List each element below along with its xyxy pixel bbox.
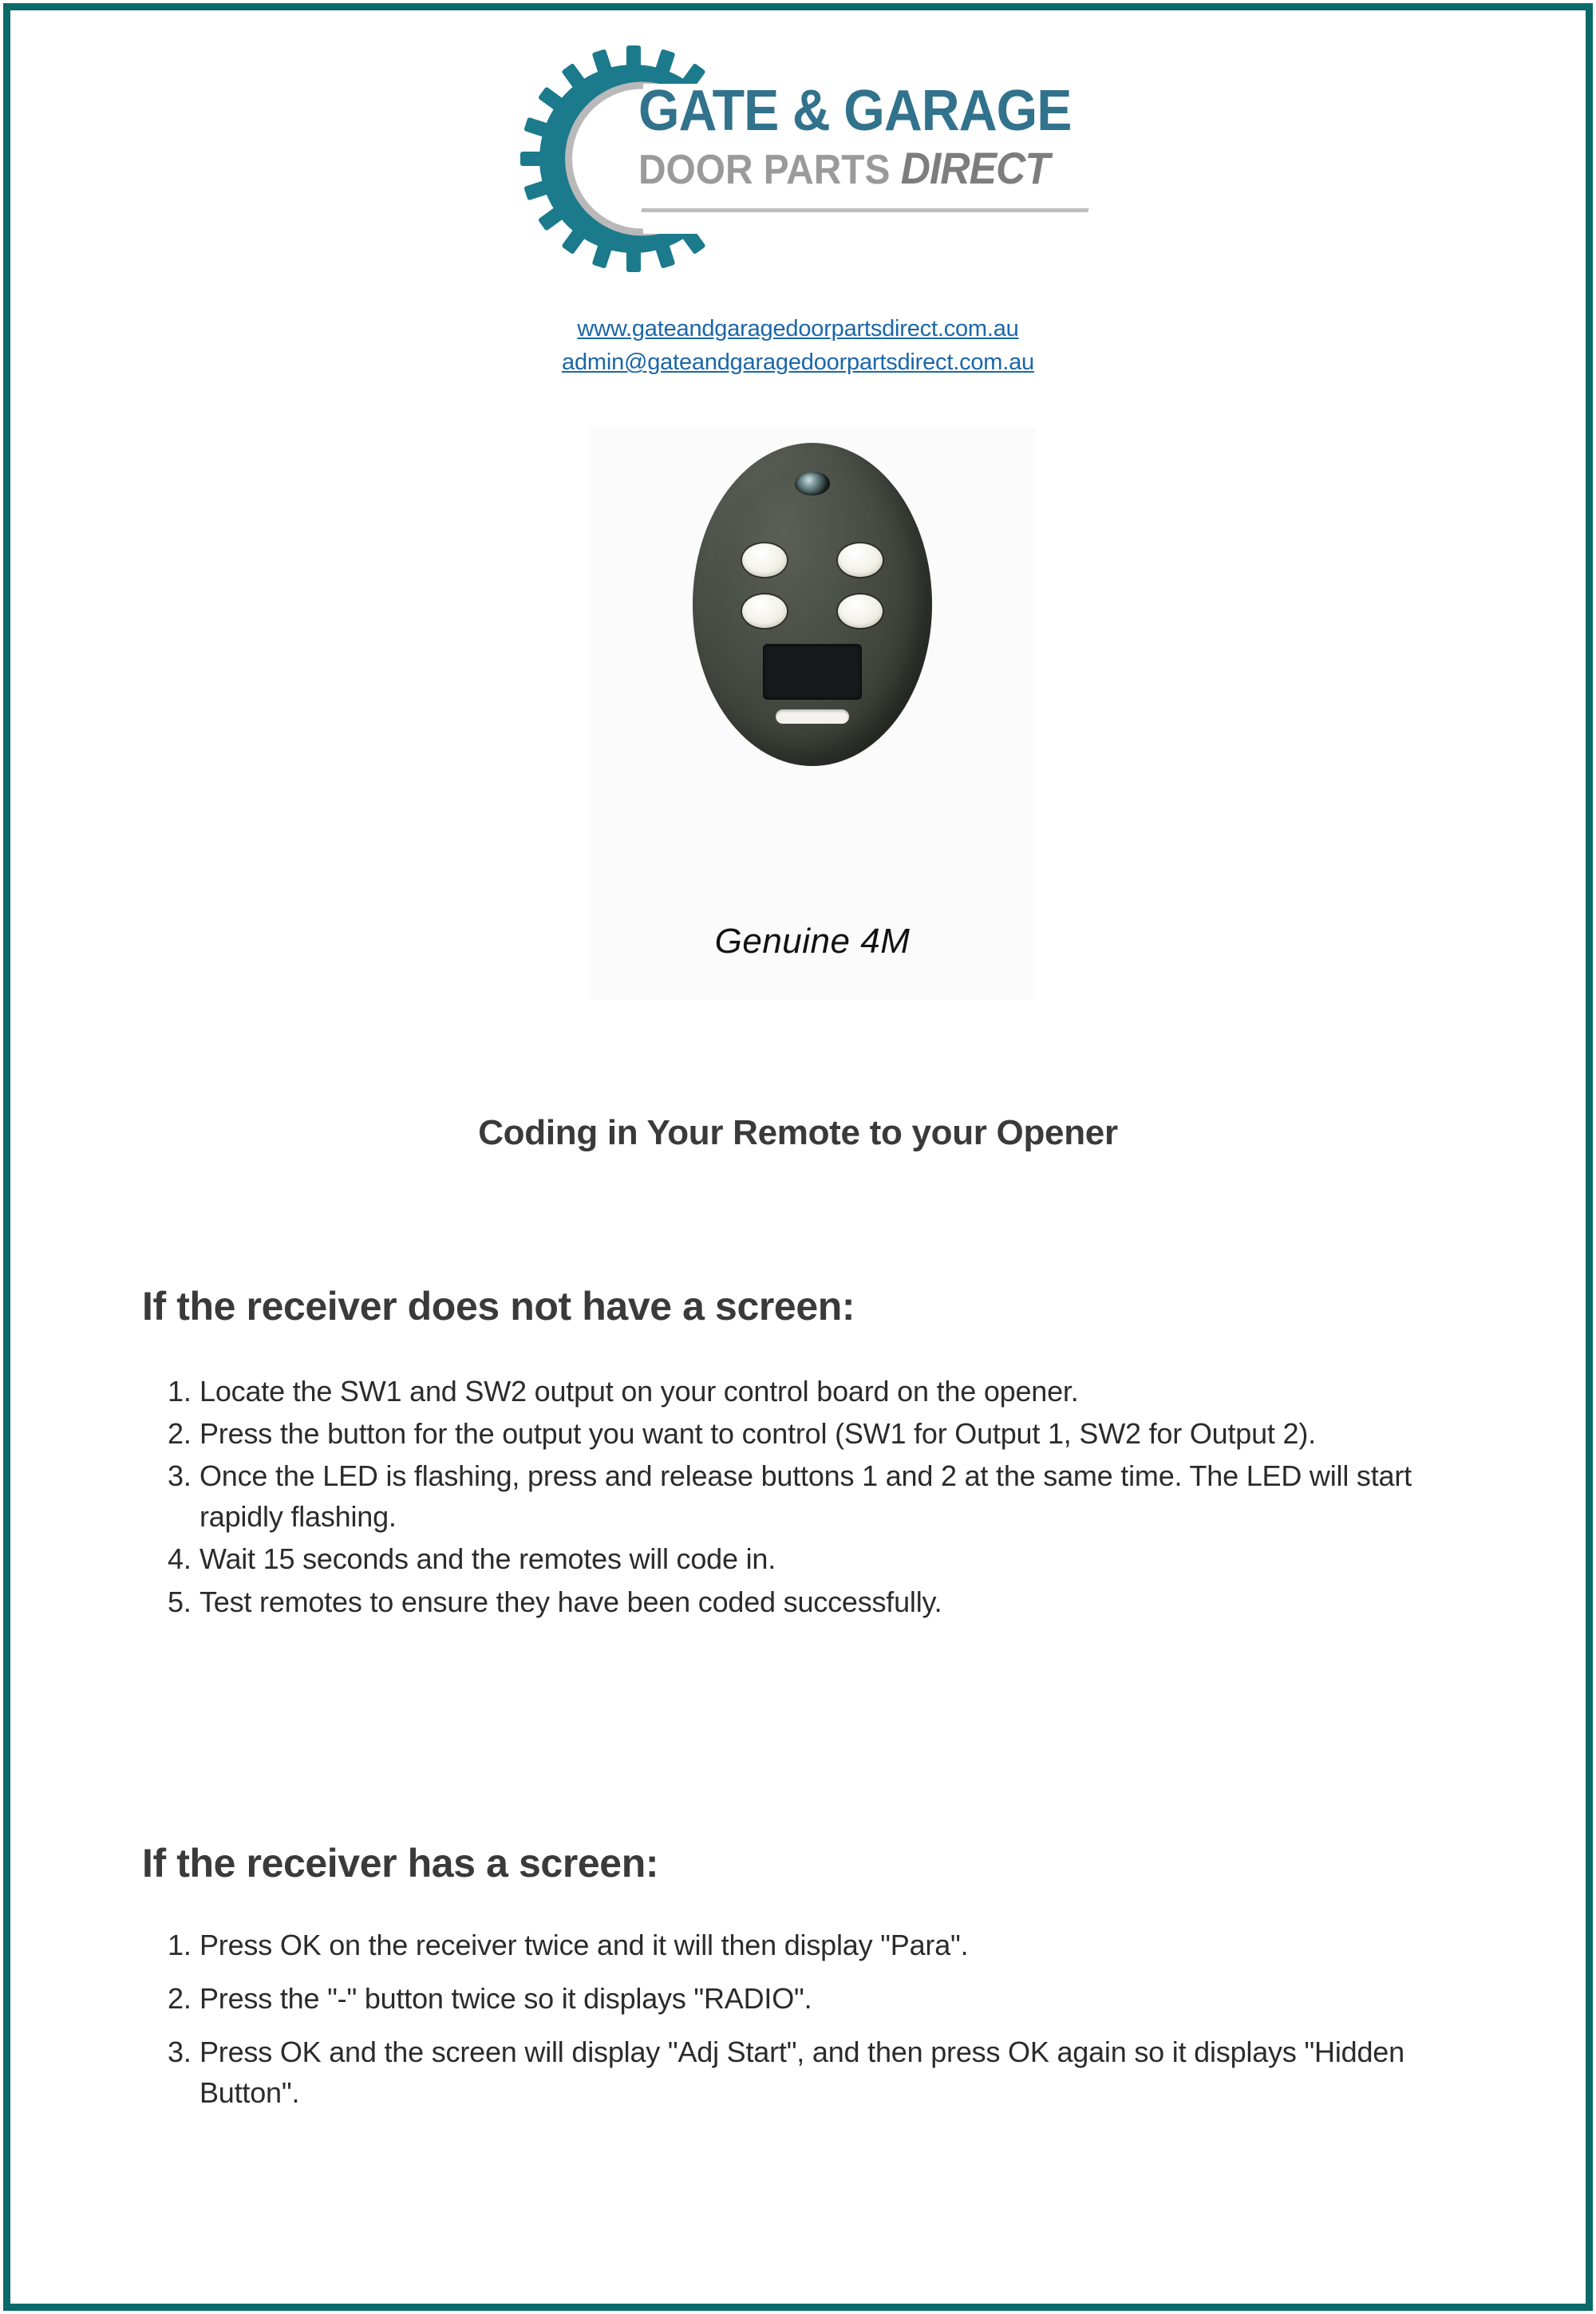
section-no-screen: If the receiver does not have a screen: …: [142, 1283, 1490, 1624]
list-item: Wait 15 seconds and the remotes will cod…: [142, 1538, 1490, 1579]
page-content: GATE & GARAGE DOOR PARTS DIRECT www.gate…: [10, 10, 1586, 2304]
section-heading-no-screen: If the receiver does not have a screen:: [142, 1283, 1490, 1329]
page-title: Coding in Your Remote to your Opener: [10, 1113, 1586, 1153]
remote-button-3: [742, 594, 787, 628]
list-item: Press OK on the receiver twice and it wi…: [142, 1925, 1490, 1965]
remote-control-illustration: [693, 443, 932, 766]
steps-list-has-screen: Press OK on the receiver twice and it wi…: [142, 1925, 1490, 2113]
company-logo: GATE & GARAGE DOOR PARTS DIRECT: [10, 39, 1586, 302]
logo-direct-text: DIRECT: [901, 143, 1049, 193]
product-image: Genuine 4M: [589, 427, 1036, 1000]
list-item: Press OK and the screen will display "Ad…: [142, 2032, 1490, 2113]
email-link[interactable]: admin@gateandgaragedoorpartsdirect.com.a…: [562, 346, 1034, 379]
list-item: Press the button for the output you want…: [142, 1413, 1490, 1454]
remote-label-panel: [763, 644, 862, 700]
section-heading-has-screen: If the receiver has a screen:: [142, 1840, 1490, 1886]
section-has-screen: If the receiver has a screen: Press OK o…: [142, 1840, 1490, 2126]
steps-list-no-screen: Locate the SW1 and SW2 output on your co…: [142, 1371, 1490, 1622]
contact-links: www.gateandgaragedoorpartsdirect.com.au …: [10, 312, 1586, 379]
remote-button-2: [838, 543, 883, 577]
remote-button-1: [742, 543, 787, 577]
website-link[interactable]: www.gateandgaragedoorpartsdirect.com.au: [577, 312, 1018, 346]
remote-button-4: [838, 594, 883, 628]
logo-wordmark: GATE & GARAGE DOOR PARTS DIRECT: [638, 84, 1101, 194]
list-item: Test remotes to ensure they have been co…: [142, 1581, 1490, 1622]
logo-line-secondary: DOOR PARTS DIRECT: [638, 142, 1065, 194]
logo-line-primary: GATE & GARAGE: [638, 84, 1065, 139]
logo-underline-bar: [641, 208, 1088, 212]
page-border-frame: GATE & GARAGE DOOR PARTS DIRECT www.gate…: [3, 3, 1593, 2311]
led-indicator-icon: [795, 472, 830, 496]
remote-keyring-slot: [776, 709, 849, 724]
logo-doorparts-text: DOOR PARTS: [638, 147, 901, 193]
logo-wrapper: GATE & GARAGE DOOR PARTS DIRECT: [495, 39, 1101, 294]
list-item: Once the LED is flashing, press and rele…: [142, 1455, 1490, 1537]
list-item: Press the "-" button twice so it display…: [142, 1978, 1490, 2019]
product-caption: Genuine 4M: [589, 922, 1036, 962]
list-item: Locate the SW1 and SW2 output on your co…: [142, 1371, 1490, 1412]
